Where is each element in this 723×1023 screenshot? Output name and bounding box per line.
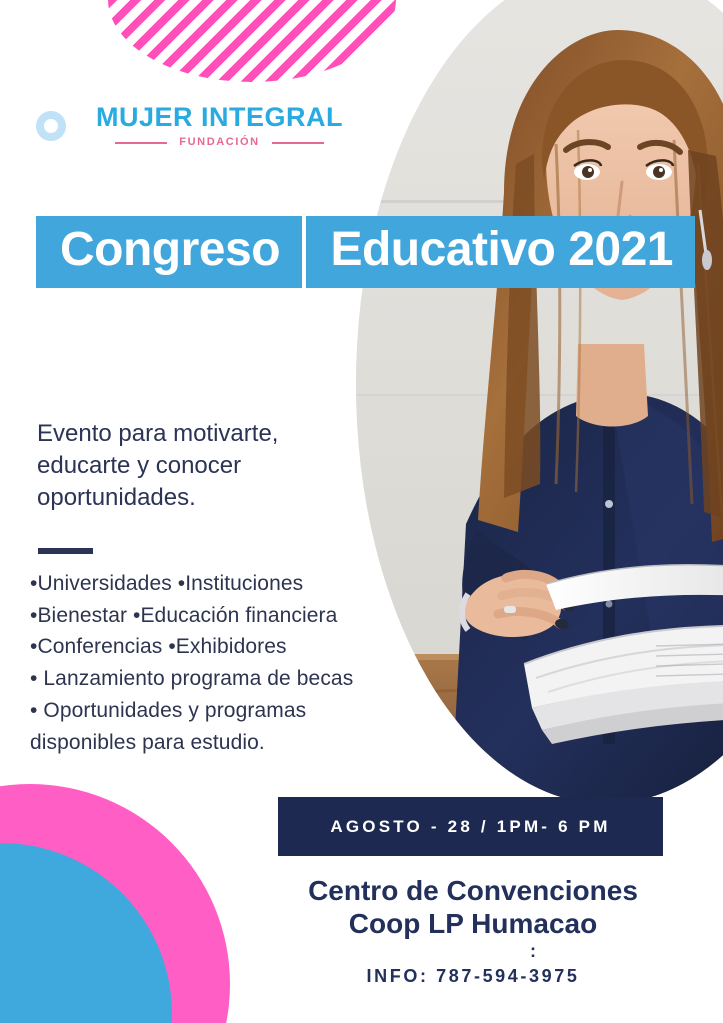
logo-rule-right: [272, 142, 324, 144]
list-item: •Bienestar •Educación financiera: [30, 600, 430, 632]
contact-phone: INFO: 787-594-3975: [253, 966, 693, 987]
venue-colon-mark: :: [373, 942, 693, 960]
title-line-1: Congreso: [36, 216, 302, 288]
poster-canvas: MUJER INTEGRAL FUNDACIÓN Congreso Educat…: [0, 0, 723, 1023]
logo-rule-left: [115, 142, 167, 144]
list-item: • Oportunidades y programas: [30, 695, 430, 727]
venue-line-1: Centro de Convenciones: [253, 874, 693, 907]
event-subtitle: Evento para motivarte, educarte y conoce…: [37, 418, 367, 514]
list-item: • Lanzamiento programa de becas: [30, 663, 430, 695]
brand-logo: MUJER INTEGRAL FUNDACIÓN: [36, 104, 343, 148]
list-item: •Conferencias •Exhibidores: [30, 631, 430, 663]
logo-title: MUJER INTEGRAL: [96, 104, 343, 131]
venue-line-2: Coop LP Humacao: [253, 907, 693, 940]
list-item: •Universidades •Instituciones: [30, 568, 430, 600]
logo-subtitle-row: FUNDACIÓN: [96, 137, 343, 148]
feature-list: •Universidades •Instituciones •Bienestar…: [30, 568, 430, 758]
event-date-text: AGOSTO - 28 / 1PM- 6 PM: [330, 817, 610, 837]
logo-subtitle: FUNDACIÓN: [179, 137, 259, 148]
event-date-banner: AGOSTO - 28 / 1PM- 6 PM: [278, 797, 663, 856]
list-item-continuation: disponibles para estudio.: [30, 727, 430, 759]
stripe-pattern: [108, 0, 396, 82]
ring-icon: [36, 111, 66, 141]
pink-striped-semicircle-decoration: [108, 0, 396, 82]
section-divider: [38, 548, 93, 554]
venue-block: Centro de Convenciones Coop LP Humacao :…: [253, 874, 693, 987]
page-title: Congreso Educativo 2021: [36, 208, 695, 288]
logo-text-group: MUJER INTEGRAL FUNDACIÓN: [96, 104, 343, 148]
title-line-2: Educativo 2021: [306, 216, 695, 288]
